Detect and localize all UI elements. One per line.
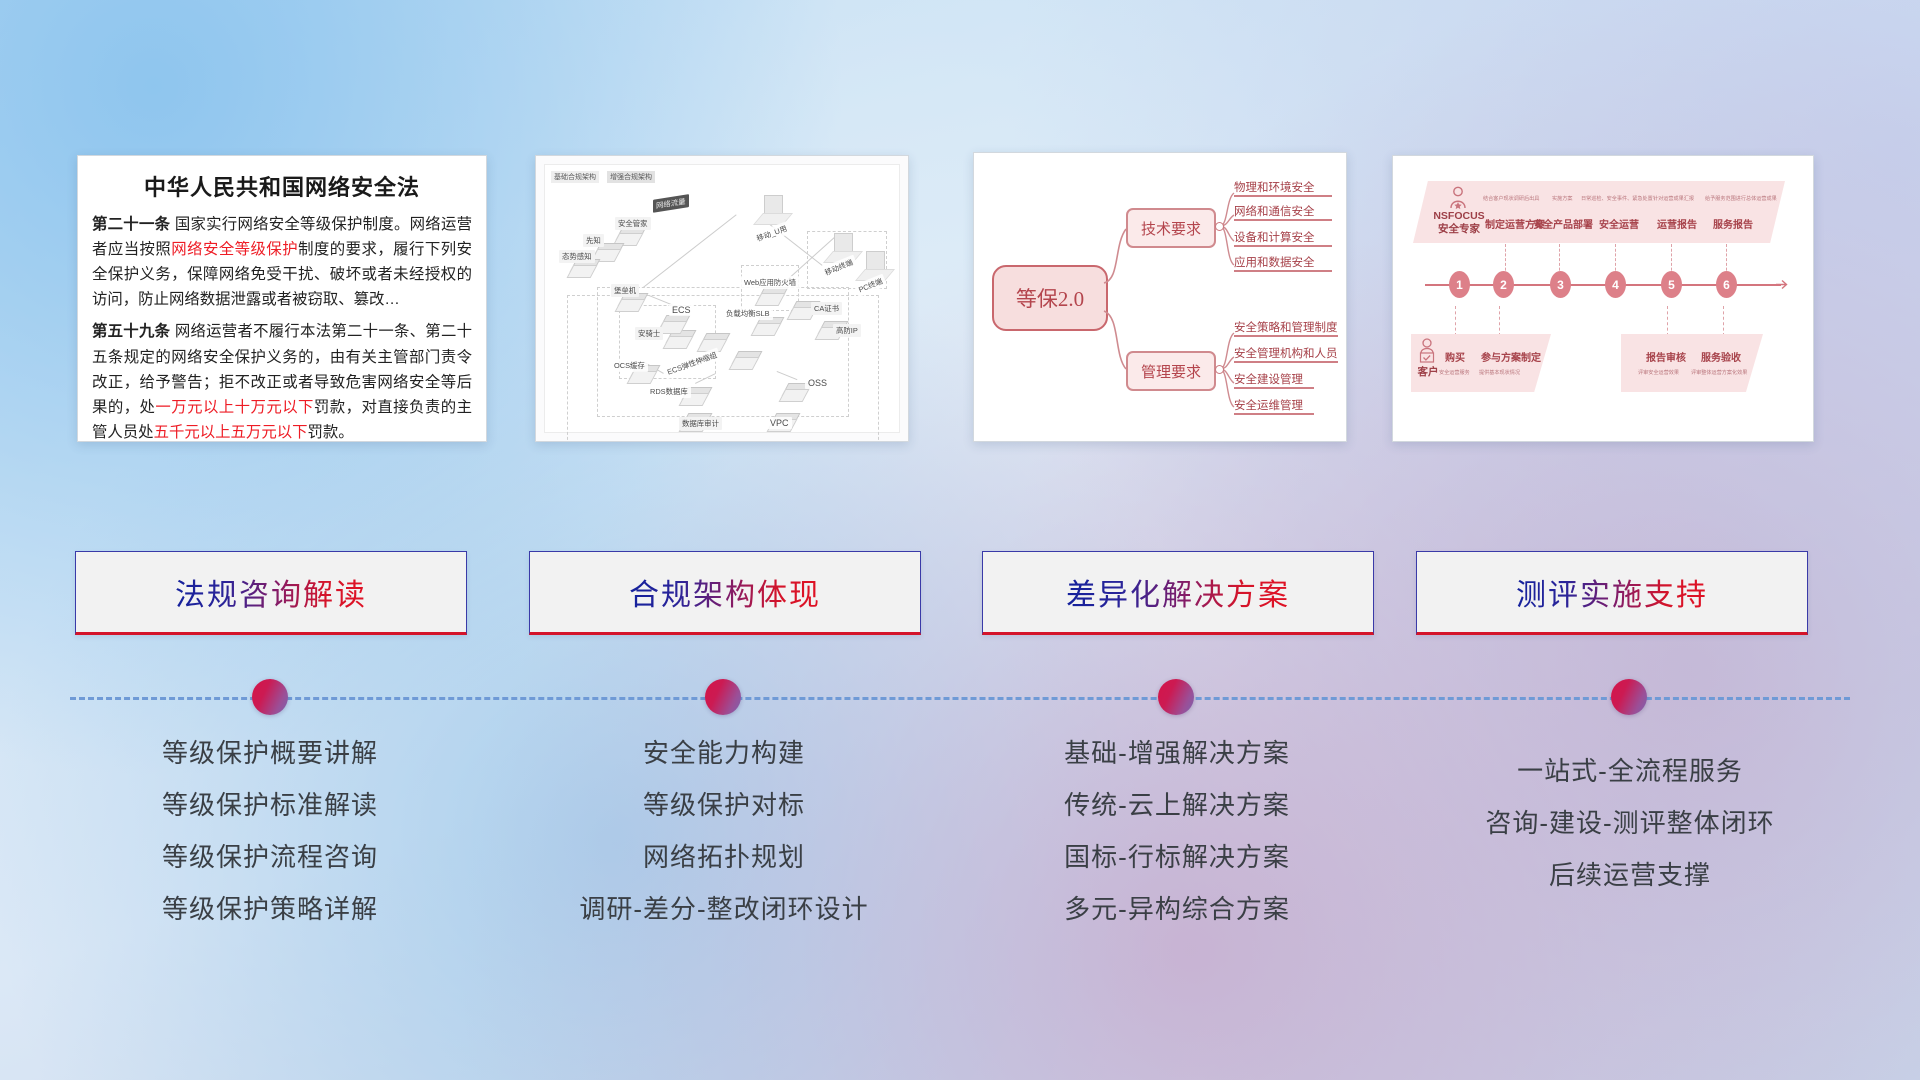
nsfocus-expert-role: NSFOCUS 安全专家 <box>1429 210 1489 236</box>
timeline-dashed-line <box>70 697 1850 700</box>
card-compliance-architecture: 基础合规架构 增强合规架构 <box>535 155 909 442</box>
arch-label-situational-awareness: 态势感知 <box>559 250 595 263</box>
timeline-dot-4[interactable] <box>1611 679 1647 715</box>
nsfocus-bottom-step-1: 购买 <box>1445 349 1465 364</box>
nsfocus-top-step-2: 安全产品部署 <box>1533 216 1593 231</box>
nsfocus-top-sub-3: 日常巡检、安全事件、紧急处置 <box>1581 194 1653 202</box>
architecture-canvas: 基础合规架构 增强合规架构 <box>544 164 900 433</box>
law-article-59-label: 第五十九条 <box>92 323 170 340</box>
nsfocus-leader-8 <box>1667 306 1669 336</box>
law-article-59-highlight-1: 一万元以上十万元以下 <box>155 399 314 416</box>
list-item: 传统-云上解决方案 <box>957 792 1397 818</box>
mindmap-branch-management: 管理要求 <box>1126 351 1216 391</box>
list-item: 基础-增强解决方案 <box>957 740 1397 766</box>
timeline-dot-2[interactable] <box>705 679 741 715</box>
card-dengbao-mindmap: 等保2.0 技术要求 物理和环境安全 网络和通信安全 设备和计算安全 应用和数据… <box>973 152 1347 442</box>
arch-label-db-audit: 数据库审计 <box>679 417 722 430</box>
arch-label-waf: Web应用防火墙 <box>741 276 799 289</box>
arch-label-xianzhi: 先知 <box>583 234 604 247</box>
nsfocus-customer-role: 客户 <box>1415 364 1441 379</box>
nsfocus-leader-7 <box>1499 306 1501 336</box>
mindmap-leaf-policy-system: 安全策略和管理制度 <box>1234 319 1338 337</box>
nsfocus-leader-9 <box>1723 306 1725 336</box>
nsfocus-bottom-sub-4: 评审整体运营方案化效果 <box>1691 368 1747 376</box>
nsfocus-bottom-step-4: 服务验收 <box>1701 349 1741 364</box>
pillar-title-1: 法规咨询解读 <box>175 570 367 614</box>
arch-label-oss: OSS <box>805 377 830 389</box>
pillar-title-3: 差异化解决方案 <box>1066 570 1290 614</box>
list-item: 安全能力构建 <box>504 740 944 766</box>
nsfocus-top-step-4: 运营报告 <box>1657 216 1697 231</box>
nsfocus-top-step-3: 安全运营 <box>1599 216 1639 231</box>
mindmap-leaf-network-comm: 网络和通信安全 <box>1234 203 1332 221</box>
list-item: 后续运营支撑 <box>1410 862 1850 888</box>
arch-label-slb: 负载均衡SLB <box>723 307 773 320</box>
pillar-title-box-2[interactable]: 合规架构体现 <box>529 551 921 635</box>
nsfocus-expert-role-line2: 安全专家 <box>1438 223 1480 235</box>
nsfocus-step-number-2: 2 <box>1493 271 1514 298</box>
mindmap-collapse-dot-technical[interactable] <box>1215 222 1224 231</box>
arch-label-security-butler: 安全管家 <box>615 217 651 230</box>
list-item: 多元-异构综合方案 <box>957 896 1397 922</box>
mindmap-leaf-construction-mgmt: 安全建设管理 <box>1234 371 1314 389</box>
nsfocus-leader-6 <box>1455 306 1457 336</box>
mindmap-leaf-ops-mgmt: 安全运维管理 <box>1234 397 1314 415</box>
pillar-title-2: 合规架构体现 <box>629 570 821 614</box>
law-article-21: 第二十一条 国家实行网络安全等级保护制度。网络运营者应当按照网络安全等级保护制度… <box>92 212 472 312</box>
mindmap-leaf-org-personnel: 安全管理机构和人员 <box>1234 345 1338 363</box>
law-title: 中华人民共和国网络安全法 <box>78 170 486 202</box>
mindmap-branch-technical: 技术要求 <box>1126 208 1216 248</box>
nsfocus-step-number-3: 3 <box>1550 271 1571 298</box>
list-item: 国标-行标解决方案 <box>957 844 1397 870</box>
card-nsfocus-service-timeline: NSFOCUS 安全专家 结合客户现状调研后出具 制定运营方案 实施方案 安全产… <box>1392 155 1814 442</box>
law-article-59-end: 罚款。 <box>308 424 354 441</box>
law-article-59-highlight-2: 五千元以上五万元以下 <box>154 424 308 441</box>
nsfocus-bottom-sub-1: 安全运营服务 <box>1439 368 1470 376</box>
arch-label-ca-cert: CA证书 <box>811 302 842 315</box>
pillar-items-3: 基础-增强解决方案 传统-云上解决方案 国标-行标解决方案 多元-异构综合方案 <box>957 740 1397 948</box>
pillar-title-box-3[interactable]: 差异化解决方案 <box>982 551 1374 635</box>
nsfocus-top-sub-1: 结合客户现状调研后出具 <box>1483 194 1539 202</box>
pillar-title-4: 测评实施支持 <box>1516 570 1708 614</box>
arch-node-ecs <box>663 315 693 331</box>
law-article-21-label: 第二十一条 <box>92 216 170 233</box>
customer-person-icon <box>1417 338 1437 366</box>
mindmap-leaf-device-compute: 设备和计算安全 <box>1234 229 1332 247</box>
list-item: 网络拓扑规划 <box>504 844 944 870</box>
list-item: 等级保护对标 <box>504 792 944 818</box>
arch-node-ecs-2 <box>703 333 733 349</box>
expert-person-icon <box>1447 186 1469 210</box>
nsfocus-step-number-5: 5 <box>1661 271 1682 298</box>
pillar-items-1: 等级保护概要讲解 等级保护标准解读 等级保护流程咨询 等级保护策略详解 <box>50 740 490 948</box>
arch-label-rds: RDS数据库 <box>647 385 691 398</box>
list-item: 调研-差分-整改闭环设计 <box>504 896 944 922</box>
list-item: 一站式-全流程服务 <box>1410 758 1850 784</box>
arch-label-vpc: VPC <box>767 417 792 429</box>
law-article-59: 第五十九条 网络运营者不履行本法第二十一条、第二十五条规定的网络安全保护义务的，… <box>92 319 472 442</box>
nsfocus-top-step-5: 服务报告 <box>1713 216 1753 231</box>
arch-tab-basic[interactable]: 基础合规架构 <box>551 171 599 183</box>
list-item: 等级保护标准解读 <box>50 792 490 818</box>
arch-tab-enhanced[interactable]: 增强合规架构 <box>607 171 655 183</box>
nsfocus-bottom-band-right <box>1621 334 1763 392</box>
law-body: 第二十一条 国家实行网络安全等级保护制度。网络运营者应当按照网络安全等级保护制度… <box>78 212 486 442</box>
pillar-title-box-1[interactable]: 法规咨询解读 <box>75 551 467 635</box>
law-article-21-highlight: 网络安全等级保护 <box>171 241 298 258</box>
list-item: 咨询-建设-测评整体闭环 <box>1410 810 1850 836</box>
nsfocus-top-sub-2: 实施方案 <box>1552 194 1572 202</box>
nsfocus-step-number-4: 4 <box>1605 271 1626 298</box>
pillar-title-box-4[interactable]: 测评实施支持 <box>1416 551 1808 635</box>
card-cybersecurity-law: 中华人民共和国网络安全法 第二十一条 国家实行网络安全等级保护制度。网络运营者应… <box>77 155 487 442</box>
timeline-dot-3[interactable] <box>1158 679 1194 715</box>
mindmap-leaf-app-data: 应用和数据安全 <box>1234 254 1332 272</box>
arch-node-ecs-3 <box>735 351 765 367</box>
pillar-items-2: 安全能力构建 等级保护对标 网络拓扑规划 调研-差分-整改闭环设计 <box>504 740 944 948</box>
nsfocus-top-sub-5: 给予服务范围进行总体运营成果 <box>1705 194 1777 202</box>
arch-srv-mobile-app <box>759 195 787 225</box>
arch-label-ecs: ECS <box>669 304 694 316</box>
mindmap-collapse-dot-management[interactable] <box>1215 365 1224 374</box>
nsfocus-bottom-sub-2: 提供基本现状情况 <box>1479 368 1520 376</box>
nsfocus-bottom-step-3: 报告审核 <box>1646 349 1686 364</box>
pillar-items-4: 一站式-全流程服务 咨询-建设-测评整体闭环 后续运营支撑 <box>1410 758 1850 914</box>
arch-node-waf <box>761 287 791 303</box>
nsfocus-bottom-step-2: 参与方案制定 <box>1481 349 1541 364</box>
list-item: 等级保护策略详解 <box>50 896 490 922</box>
nsfocus-bottom-sub-3: 评审安全运营效果 <box>1638 368 1679 376</box>
arch-label-anti-ddos-ip: 高防IP <box>833 324 861 337</box>
nsfocus-step-number-6: 6 <box>1716 271 1737 298</box>
arch-label-bastion-host: 堡垒机 <box>611 284 639 297</box>
arch-label-network-traffic: 网络流量 <box>653 194 689 213</box>
nsfocus-axis-arrow-icon <box>1776 278 1790 291</box>
list-item: 等级保护流程咨询 <box>50 844 490 870</box>
list-item: 等级保护概要讲解 <box>50 740 490 766</box>
arch-wire-1 <box>643 214 737 287</box>
mindmap-leaf-physical-env: 物理和环境安全 <box>1234 179 1332 197</box>
nsfocus-step-number-1: 1 <box>1449 271 1470 298</box>
arch-label-aqs: 安骑士 <box>635 327 663 340</box>
arch-label-ocs-cache: OCS缓存 <box>611 359 648 372</box>
nsfocus-expert-role-line1: NSFOCUS <box>1433 210 1484 222</box>
timeline-dot-1[interactable] <box>252 679 288 715</box>
nsfocus-top-sub-4: 针对运营成果汇报 <box>1653 194 1694 202</box>
